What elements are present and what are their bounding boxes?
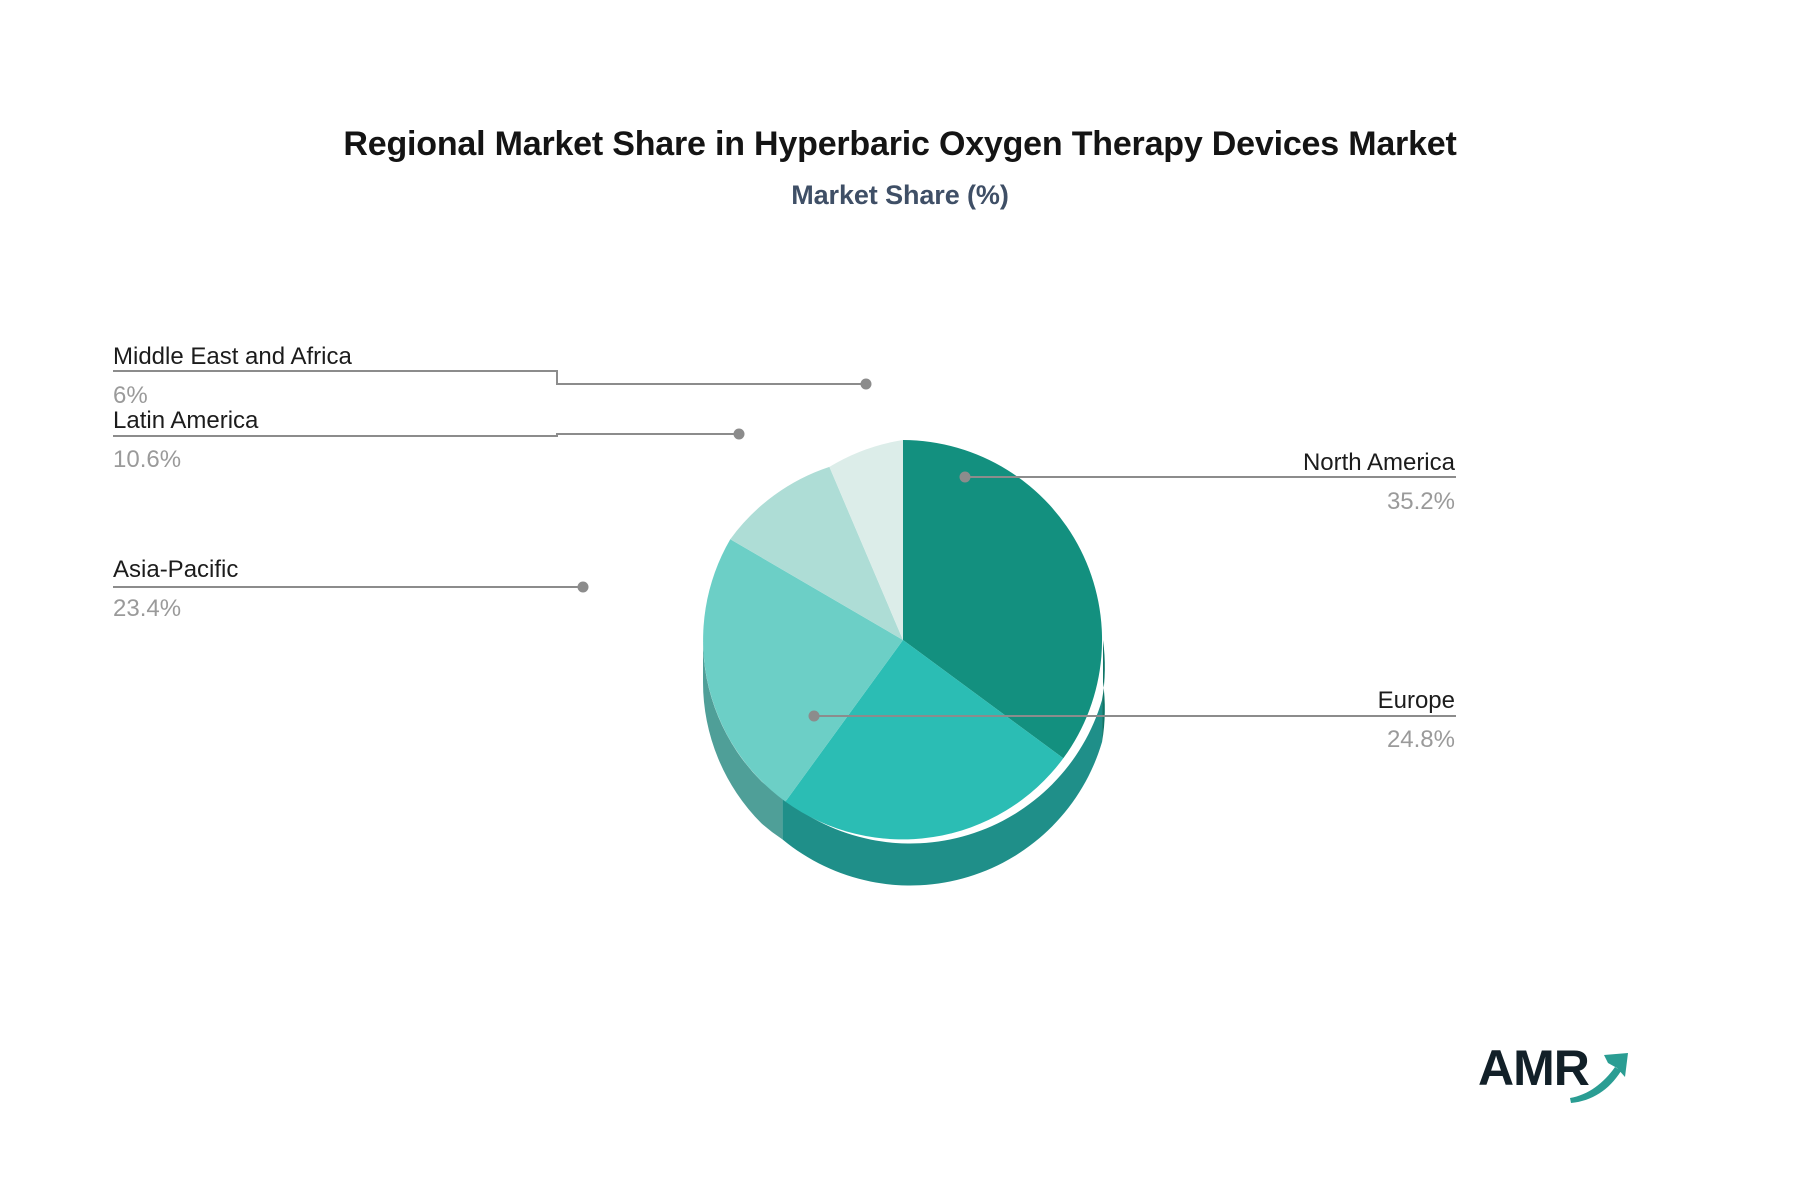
- pie-chart-svg: [0, 0, 1800, 1196]
- leader-dot-latin-america: [734, 429, 745, 440]
- chart-canvas: Regional Market Share in Hyperbaric Oxyg…: [0, 0, 1800, 1196]
- leader-dot-europe: [809, 711, 820, 722]
- pie-slices: [703, 440, 1102, 839]
- callout-value-north-america: 35.2%: [1303, 487, 1455, 517]
- callout-asia-pacific[interactable]: Asia-Pacific 23.4%: [113, 555, 238, 624]
- pie-chart-area: [0, 0, 1800, 1196]
- leader-dot-north-america: [960, 472, 971, 483]
- side-wall-north-america: [1102, 640, 1105, 742]
- callout-value-asia-pacific: 23.4%: [113, 594, 238, 624]
- callout-middle-east-and-africa[interactable]: Middle East and Africa 6%: [113, 342, 352, 411]
- leader-dot-middle-east-and-africa: [861, 379, 872, 390]
- callout-north-america[interactable]: North America 35.2%: [1303, 448, 1455, 517]
- callout-label-europe: Europe: [1378, 686, 1455, 716]
- callout-latin-america[interactable]: Latin America 10.6%: [113, 406, 258, 475]
- callout-value-europe: 24.8%: [1378, 725, 1455, 755]
- callout-label-middle-east-and-africa: Middle East and Africa: [113, 342, 352, 372]
- amr-logo-text: AMR: [1478, 1040, 1590, 1096]
- leader-dot-asia-pacific: [578, 582, 589, 593]
- callout-europe[interactable]: Europe 24.8%: [1378, 686, 1455, 755]
- callout-label-asia-pacific: Asia-Pacific: [113, 555, 238, 585]
- amr-logo: AMR: [1478, 1035, 1638, 1105]
- amr-logo-svg: AMR: [1478, 1035, 1638, 1105]
- callout-label-north-america: North America: [1303, 448, 1455, 478]
- callout-label-latin-america: Latin America: [113, 406, 258, 436]
- callout-value-latin-america: 10.6%: [113, 445, 258, 475]
